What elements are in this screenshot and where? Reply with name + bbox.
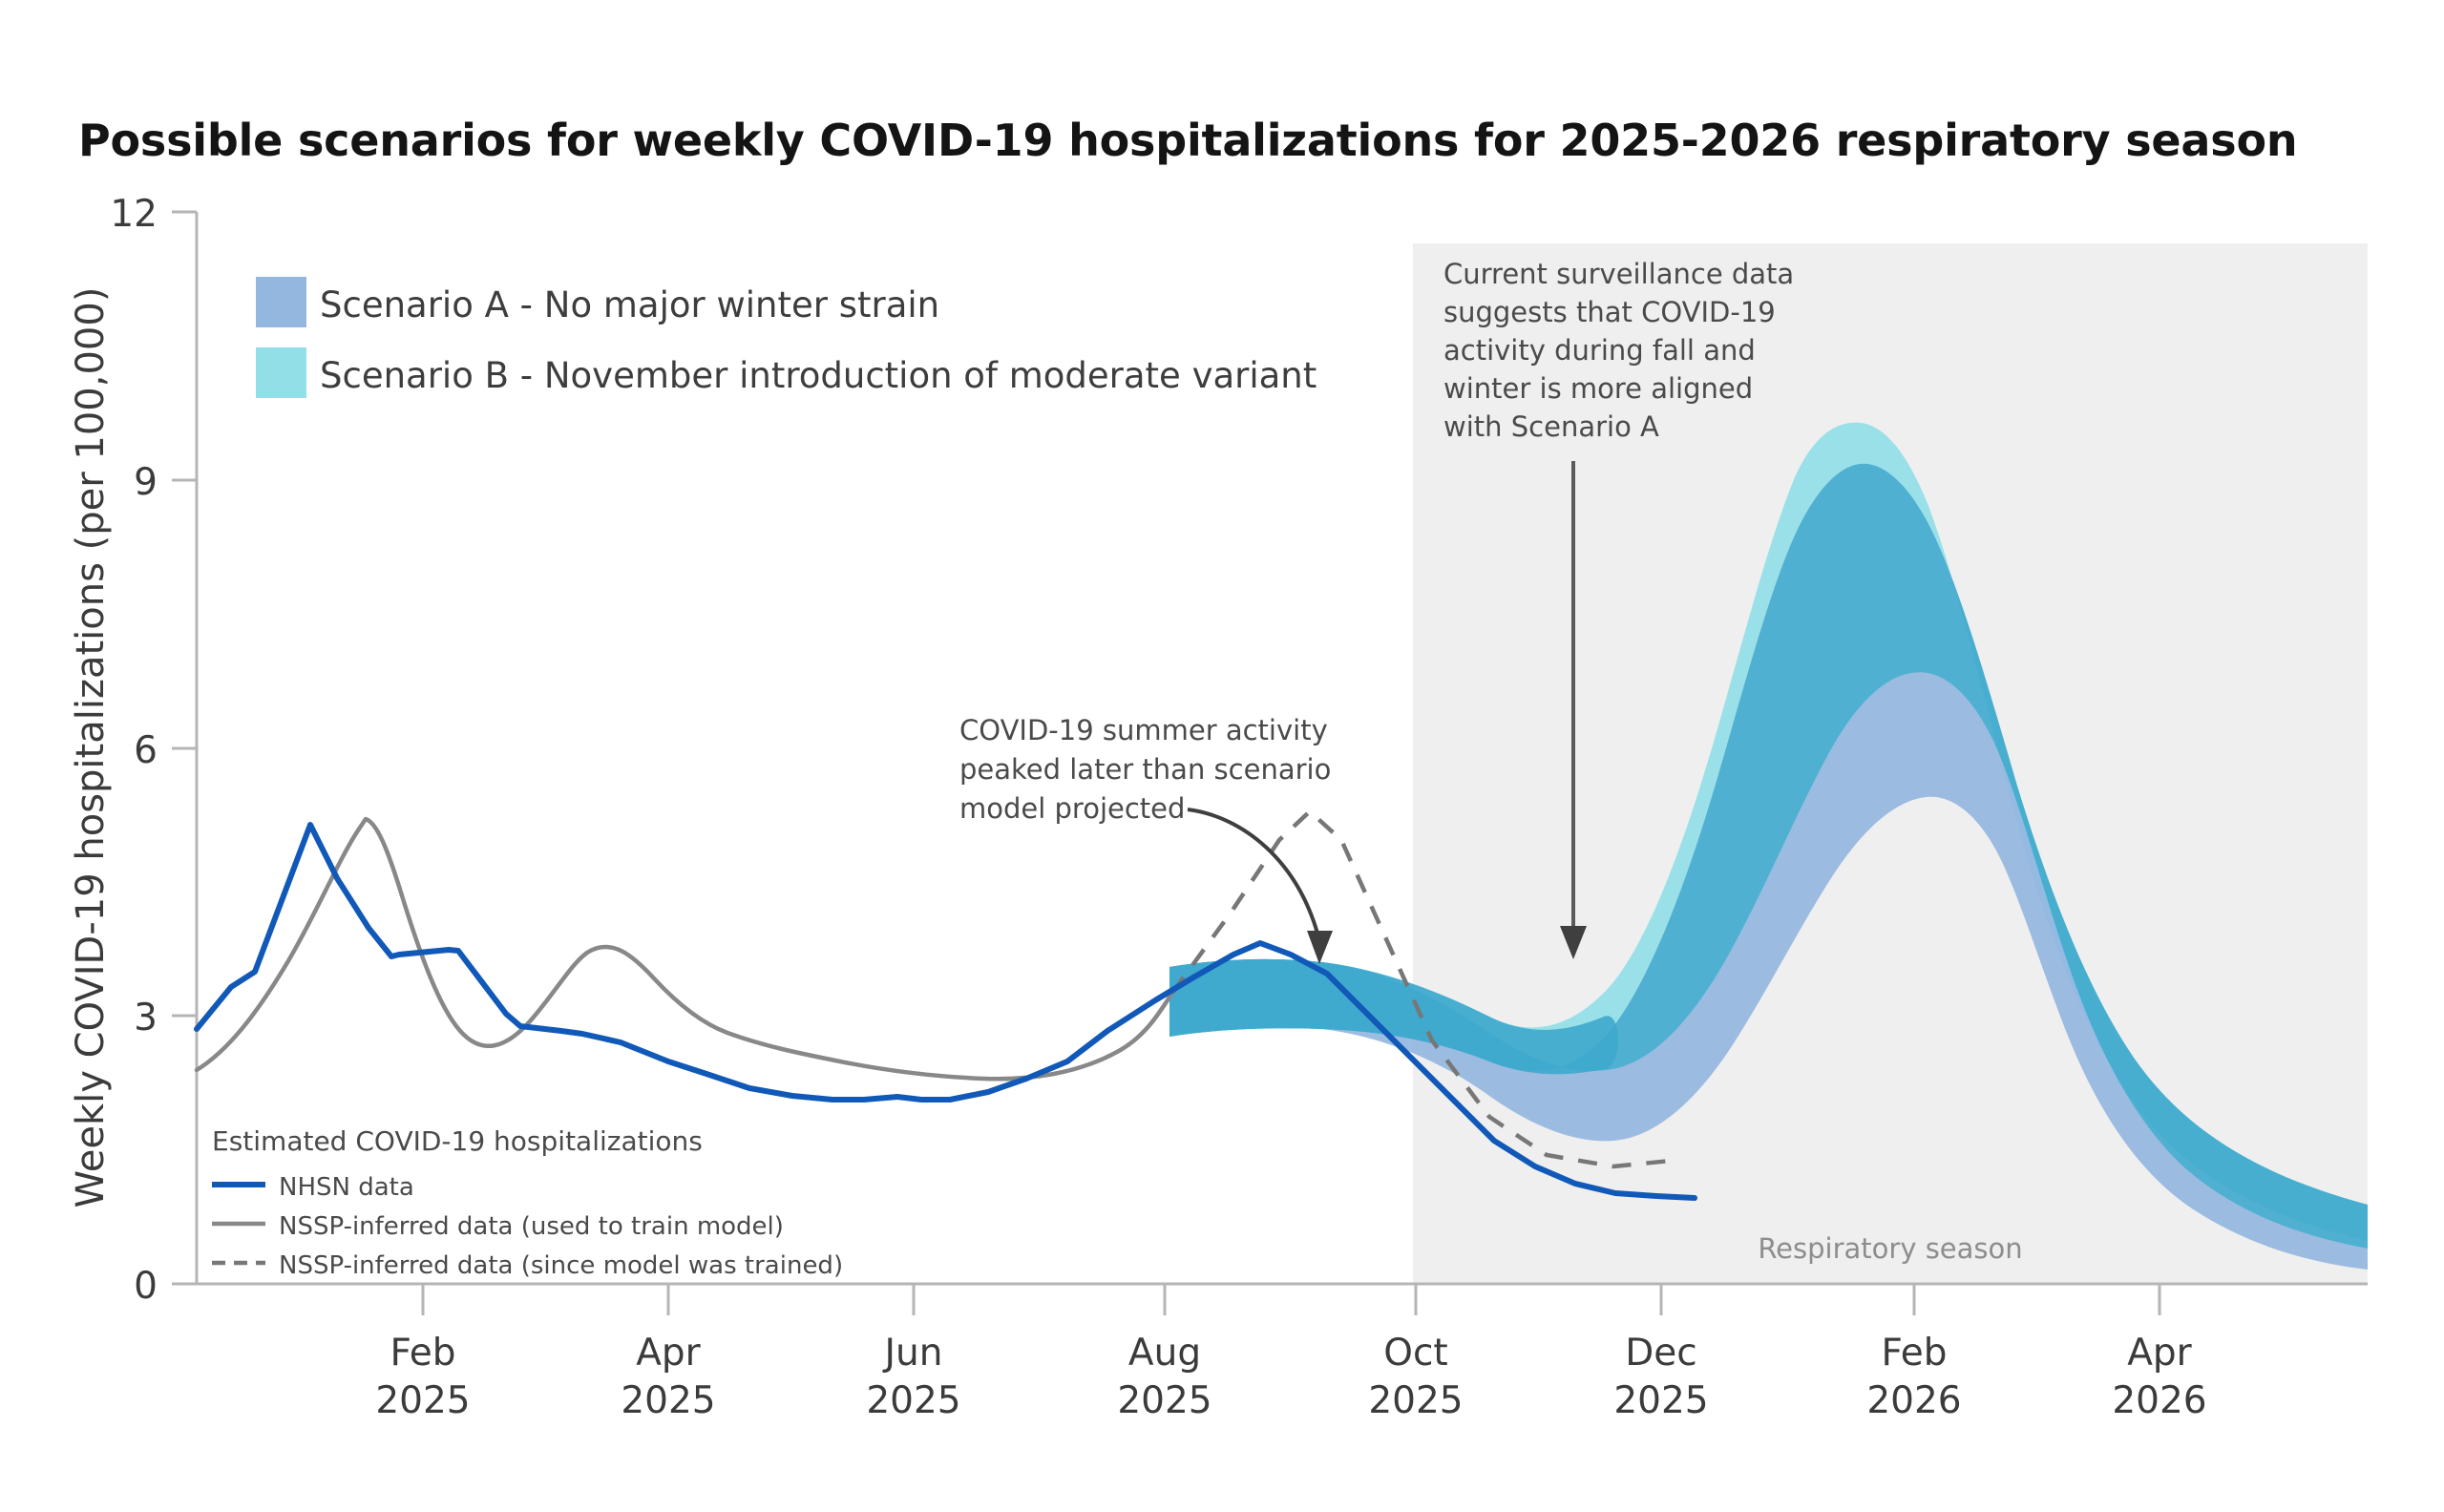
- x-tick-year-2: 2025: [866, 1379, 960, 1422]
- y-tick-label-3: 3: [134, 997, 158, 1039]
- x-tick-year-5: 2025: [1613, 1379, 1708, 1422]
- respiratory-season-label: Respiratory season: [1758, 1232, 2022, 1265]
- y-axis-label: Weekly COVID-19 hospitalizations (per 10…: [69, 287, 113, 1208]
- legend-label-scenario-a: Scenario A - No major winter strain: [320, 284, 939, 325]
- legend-swatch-scenario-a[interactable]: [256, 277, 306, 327]
- chart-svg: 12 9 6 3 0 Weekly COVID-19 hospitalizati…: [0, 0, 2444, 1512]
- legend-label-nssp-trained: NSSP-inferred data (used to train model): [279, 1212, 784, 1241]
- x-tick-month-5: Dec: [1625, 1332, 1696, 1375]
- y-tick-label-6: 6: [134, 729, 158, 772]
- surveillance-annotation-line-4: with Scenario A: [1443, 410, 1659, 443]
- chart-page: Possible scenarios for weekly COVID-19 h…: [0, 0, 2444, 1512]
- nssp-trained-line: [197, 819, 1172, 1079]
- summer-annotation-line-0: COVID-19 summer activity: [959, 714, 1328, 746]
- surveillance-annotation-line-0: Current surveillance data: [1443, 258, 1794, 290]
- y-ticks: 12 9 6 3 0: [110, 193, 197, 1308]
- y-tick-label-0: 0: [134, 1265, 158, 1308]
- x-tick-month-4: Oct: [1383, 1332, 1447, 1375]
- x-tick-year-6: 2026: [1866, 1379, 1961, 1422]
- summer-peak-annotation: COVID-19 summer activity peaked later th…: [959, 714, 1333, 964]
- x-tick-year-7: 2026: [2112, 1379, 2206, 1422]
- y-tick-label-12: 12: [110, 193, 158, 236]
- legend-data-sources: Estimated COVID-19 hospitalizations NHSN…: [212, 1125, 843, 1280]
- x-tick-year-1: 2025: [621, 1379, 715, 1422]
- x-tick-year-3: 2025: [1117, 1379, 1211, 1422]
- surveillance-annotation-line-2: activity during fall and: [1443, 334, 1756, 367]
- x-tick-year-0: 2025: [375, 1379, 470, 1422]
- x-tick-month-6: Feb: [1881, 1332, 1947, 1375]
- surveillance-annotation-line-1: suggests that COVID-19: [1443, 296, 1776, 328]
- summer-annotation-arrowhead: [1307, 931, 1333, 964]
- x-tick-month-0: Feb: [390, 1332, 455, 1375]
- x-tick-year-4: 2025: [1368, 1379, 1463, 1422]
- summer-annotation-line-1: peaked later than scenario: [959, 753, 1331, 786]
- legend-label-nssp-since-trained: NSSP-inferred data (since model was trai…: [279, 1251, 843, 1280]
- x-tick-month-2: Jun: [882, 1332, 943, 1375]
- surveillance-annotation-line-3: winter is more aligned: [1443, 372, 1753, 405]
- legend-scenarios: Scenario A - No major winter strain Scen…: [256, 277, 1317, 398]
- summer-annotation-line-2: model projected: [959, 792, 1185, 825]
- legend-label-scenario-b: Scenario B - November introduction of mo…: [320, 355, 1317, 396]
- x-tick-month-1: Apr: [636, 1332, 701, 1375]
- x-tick-month-3: Aug: [1128, 1332, 1201, 1375]
- legend-label-nhsn: NHSN data: [279, 1173, 414, 1202]
- legend-data-sources-title: Estimated COVID-19 hospitalizations: [212, 1125, 703, 1157]
- y-tick-label-9: 9: [134, 461, 158, 504]
- x-tick-month-7: Apr: [2127, 1332, 2192, 1375]
- x-ticks: Feb 2025 Apr 2025 Jun 2025 Aug 2025 Oct …: [375, 1284, 2206, 1422]
- legend-swatch-scenario-b[interactable]: [256, 347, 306, 398]
